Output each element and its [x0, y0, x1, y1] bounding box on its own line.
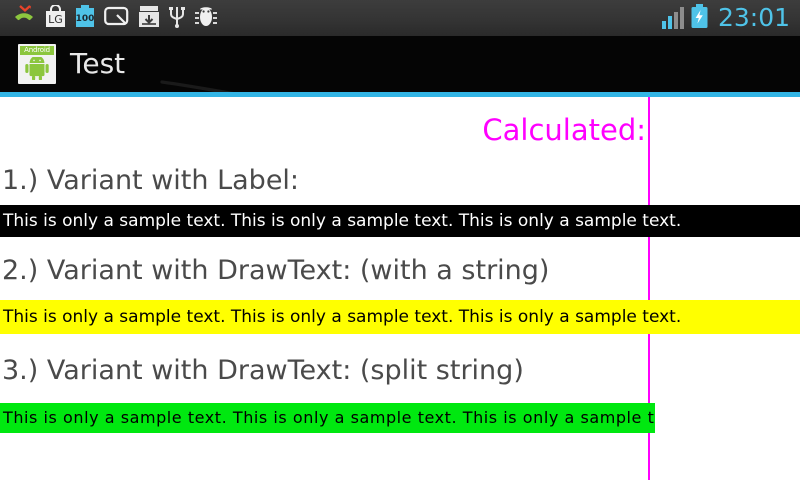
svg-text:LG: LG — [48, 13, 63, 26]
android-app-icon: Android — [18, 44, 56, 84]
sample-bar-label: This is only a sample text. This is only… — [0, 205, 800, 237]
calculated-label: Calculated: — [0, 113, 646, 147]
download-icon — [138, 5, 160, 32]
sample-bar-drawtext-split: This is only a sample text. This is only… — [0, 403, 655, 433]
signal-bars-icon — [662, 7, 684, 29]
app-title-bar: Android Test — [0, 36, 800, 92]
status-bar[interactable]: LG 100 — [0, 0, 800, 36]
screenshot-icon — [104, 5, 129, 31]
status-bar-notification-icons: LG 100 — [12, 5, 662, 32]
battery-charging-icon — [691, 4, 708, 33]
lg-store-icon: LG — [45, 5, 66, 32]
sample-bar-drawtext-string: This is only a sample text. This is only… — [0, 300, 800, 334]
app-icon-banner: Android — [20, 46, 54, 55]
android-robot-icon — [25, 57, 49, 80]
missed-call-icon — [12, 5, 36, 31]
section-heading-3: 3.) Variant with DrawText: (split string… — [2, 355, 524, 387]
svg-text:100: 100 — [76, 14, 95, 24]
page-title: Test — [70, 50, 125, 78]
usb-icon — [169, 5, 185, 32]
content-area: Calculated: 1.) Variant with Label: This… — [0, 97, 800, 480]
battery-100-icon: 100 — [75, 5, 95, 32]
status-bar-system-icons: 23:01 — [662, 4, 790, 33]
section-heading-2: 2.) Variant with DrawText: (with a strin… — [2, 255, 549, 287]
section-heading-1: 1.) Variant with Label: — [2, 165, 299, 197]
adb-debug-icon — [194, 5, 218, 31]
status-bar-clock: 23:01 — [715, 5, 790, 32]
